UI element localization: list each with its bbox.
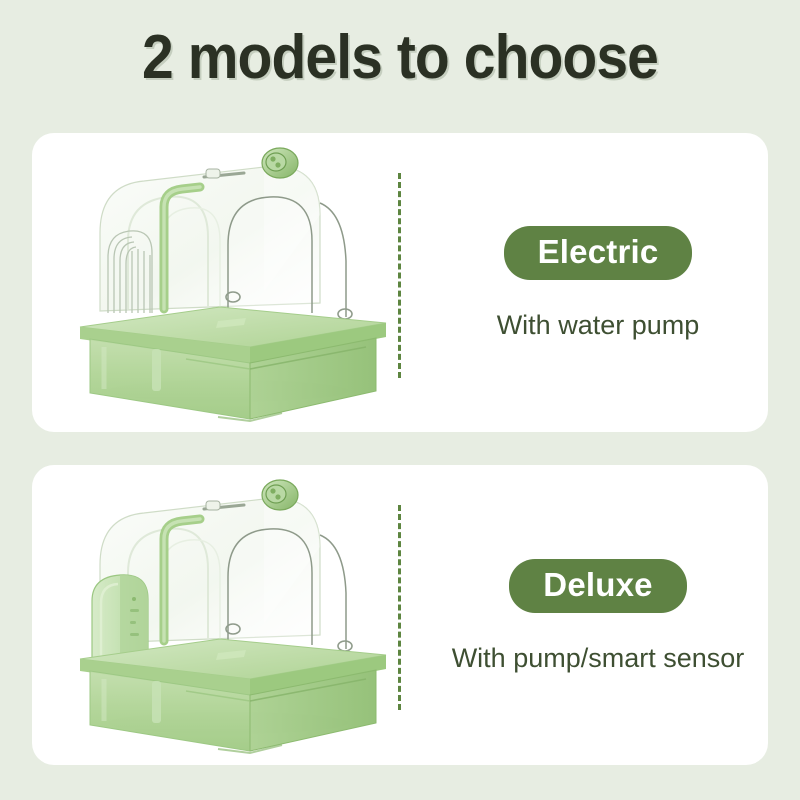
page-title: 2 models to choose bbox=[32, 22, 768, 93]
divider-dashed bbox=[398, 173, 401, 378]
dial-knob-icon bbox=[262, 148, 298, 178]
smart-sensor-module bbox=[92, 575, 148, 663]
model-card-electric[interactable]: Electric With water pump bbox=[32, 133, 768, 432]
dial-knob-icon bbox=[262, 480, 298, 510]
model-info-electric: Electric With water pump bbox=[428, 133, 768, 432]
badge-electric[interactable]: Electric bbox=[504, 226, 693, 280]
product-image-deluxe bbox=[68, 473, 398, 758]
description-deluxe: With pump/smart sensor bbox=[452, 645, 745, 672]
latch-ring-right bbox=[338, 309, 352, 319]
latch-ring-right bbox=[338, 641, 352, 651]
product-image-electric bbox=[68, 141, 398, 426]
model-info-deluxe: Deluxe With pump/smart sensor bbox=[428, 465, 768, 765]
divider-dashed bbox=[398, 505, 401, 710]
badge-deluxe[interactable]: Deluxe bbox=[509, 559, 686, 613]
model-card-deluxe[interactable]: Deluxe With pump/smart sensor bbox=[32, 465, 768, 765]
description-electric: With water pump bbox=[497, 312, 700, 339]
